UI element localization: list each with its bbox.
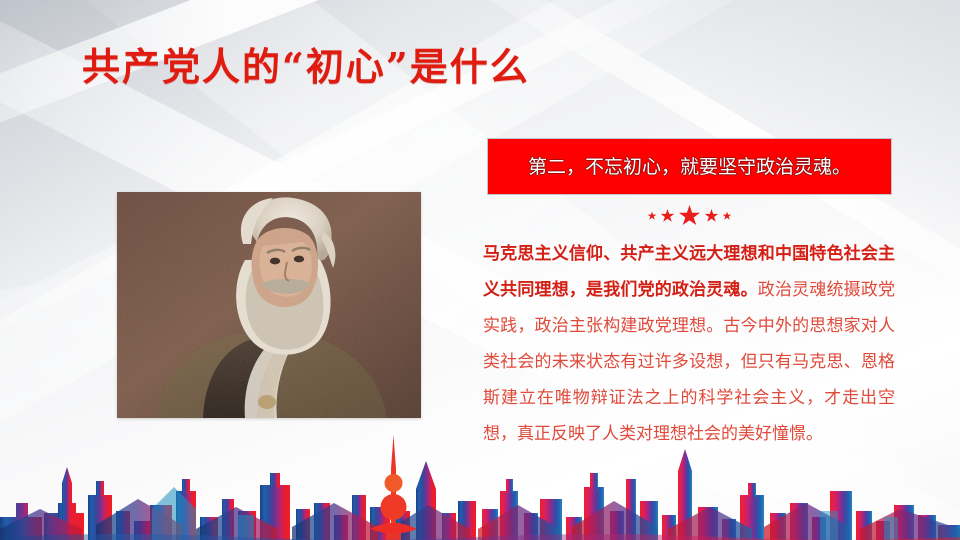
- star-icon-2: [661, 209, 675, 223]
- star-icon-1: [648, 212, 657, 221]
- star-icon-4: [705, 209, 719, 223]
- body-rest-text: 政治灵魂统摄政党实践，政治主张构建政党理想。古今中外的思想家对人类社会的未来状态…: [483, 280, 895, 444]
- marx-portrait-image: [117, 192, 421, 418]
- slide-canvas: 共产党人的“初心”是什么: [0, 0, 960, 540]
- star-icon-3: [679, 205, 701, 227]
- banner-text: 第二，不忘初心，就要坚守政治灵魂。: [528, 153, 851, 181]
- star-icon-5: [723, 212, 732, 221]
- body-paragraph: 马克思主义信仰、共产主义远大理想和中国特色社会主义共同理想，是我们党的政治灵魂。…: [483, 236, 895, 452]
- star-divider: [487, 202, 892, 230]
- slide-title: 共产党人的“初心”是什么: [82, 36, 530, 91]
- oriental-pearl-tower: [370, 435, 417, 540]
- red-headline-banner: 第二，不忘初心，就要坚守政治灵魂。: [487, 138, 892, 195]
